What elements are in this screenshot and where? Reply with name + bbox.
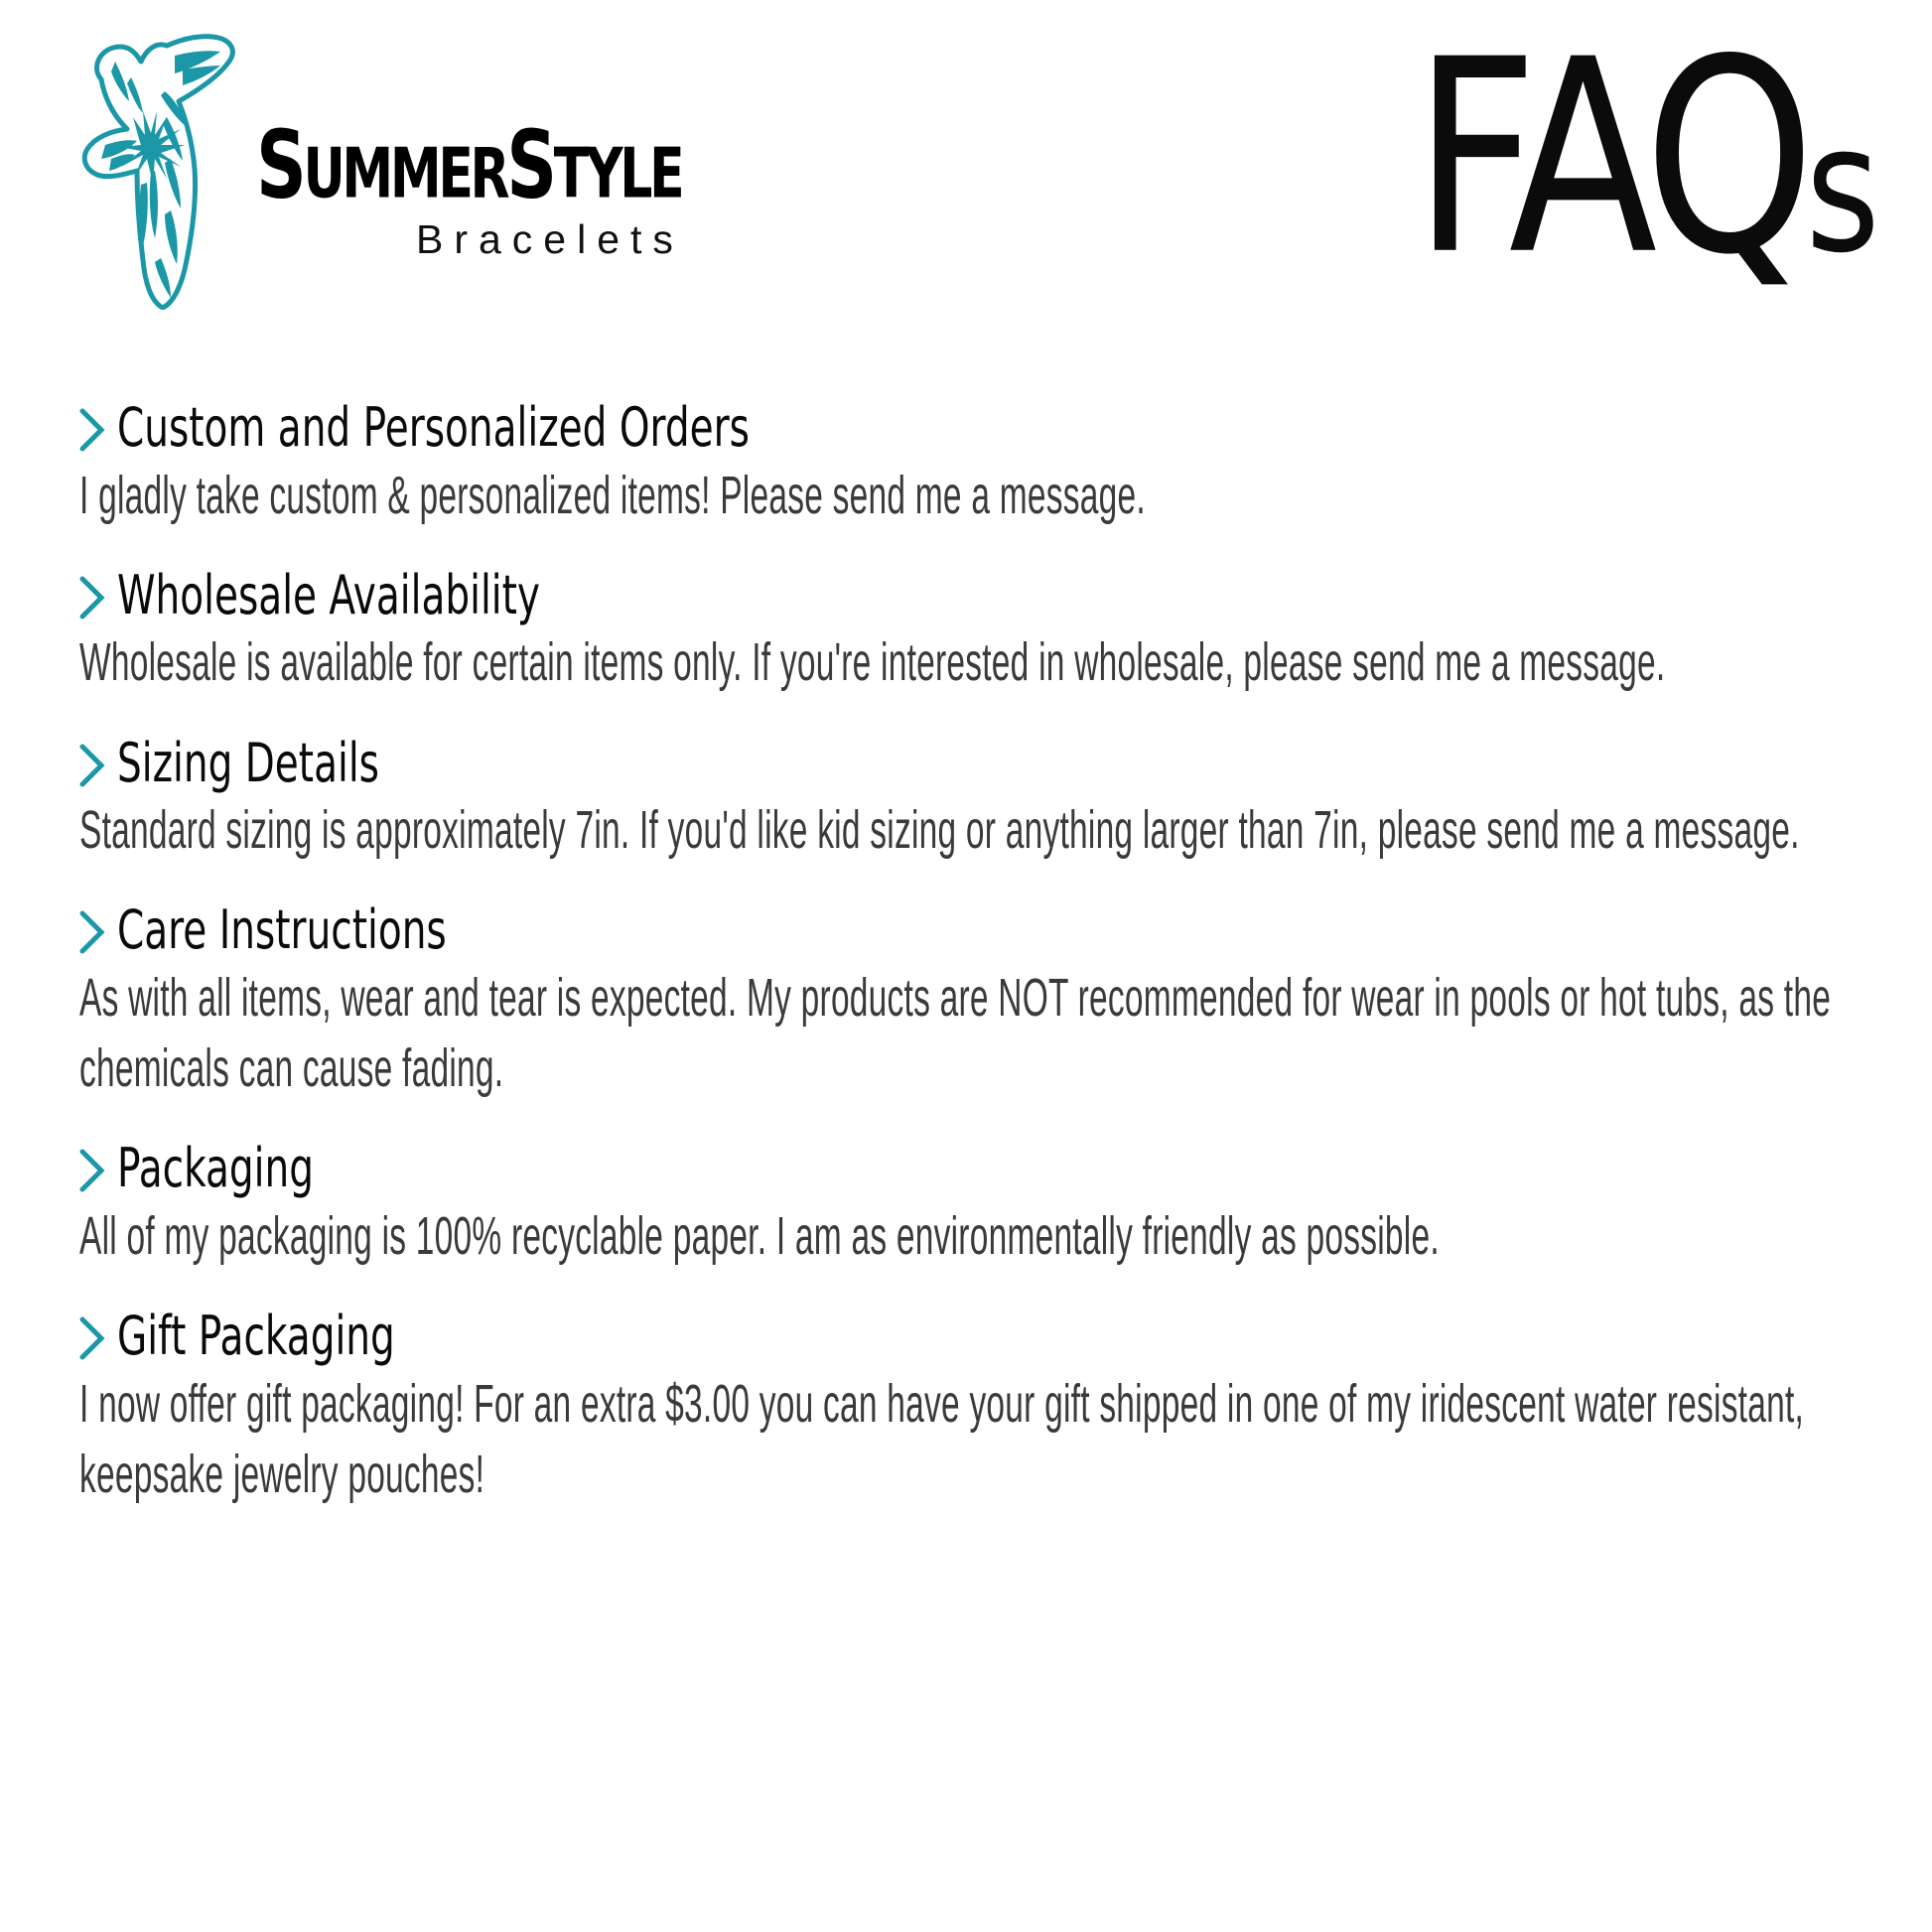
faq-heading: Wholesale Availability xyxy=(79,569,1863,624)
chevron-right-icon xyxy=(79,1315,105,1361)
brand-logo-lockup: SUMMERSTYLE Bracelets xyxy=(71,22,762,310)
faq-item-custom-and-personalized-orders: Custom and Personalized Orders I gladly … xyxy=(79,401,1863,531)
faq-item-wholesale-availability: Wholesale Availability Wholesale is avai… xyxy=(79,569,1863,699)
faq-body: As with all items, wear and tear is expe… xyxy=(79,963,1860,1105)
faq-item-care-instructions: Care Instructions As with all items, wea… xyxy=(79,903,1863,1104)
chevron-right-icon xyxy=(79,909,105,955)
faq-heading: Packaging xyxy=(79,1142,1863,1197)
faq-heading-text: Care Instructions xyxy=(117,902,447,959)
faq-heading-text: Wholesale Availability xyxy=(117,568,540,624)
starfish-icon xyxy=(71,22,250,310)
faq-body: I now offer gift packaging! For an extra… xyxy=(79,1369,1860,1511)
faq-body: All of my packaging is 100% recyclable p… xyxy=(79,1201,1860,1272)
brand-name: SUMMERSTYLE xyxy=(256,125,681,206)
chevron-right-icon xyxy=(79,407,105,453)
page-title: FAQs xyxy=(1414,24,1876,291)
faq-heading-text: Gift Packaging xyxy=(117,1309,395,1365)
brand-subtitle: Bracelets xyxy=(416,216,684,263)
brand-wordmark: SUMMERSTYLE Bracelets xyxy=(256,129,762,263)
chevron-right-icon xyxy=(79,743,105,788)
faq-heading: Custom and Personalized Orders xyxy=(79,401,1863,457)
faq-item-gift-packaging: Gift Packaging I now offer gift packagin… xyxy=(79,1310,1863,1510)
faq-heading: Gift Packaging xyxy=(79,1310,1863,1365)
faq-heading: Care Instructions xyxy=(79,903,1863,959)
faq-heading: Sizing Details xyxy=(79,737,1863,792)
faq-body: I gladly take custom & personalized item… xyxy=(79,461,1860,531)
faq-body: Standard sizing is approximately 7in. If… xyxy=(79,795,1860,866)
chevron-right-icon xyxy=(79,1148,105,1193)
page-header: SUMMERSTYLE Bracelets FAQs xyxy=(0,0,1932,328)
faq-heading-text: Packaging xyxy=(117,1141,314,1197)
faq-item-packaging: Packaging All of my packaging is 100% re… xyxy=(79,1142,1863,1272)
faq-item-sizing-details: Sizing Details Standard sizing is approx… xyxy=(79,737,1863,867)
chevron-right-icon xyxy=(79,575,105,621)
faq-heading-text: Custom and Personalized Orders xyxy=(117,400,750,457)
faq-heading-text: Sizing Details xyxy=(117,735,379,791)
faq-list: Custom and Personalized Orders I gladly … xyxy=(79,401,1863,1510)
faq-body: Wholesale is available for certain items… xyxy=(79,627,1860,698)
